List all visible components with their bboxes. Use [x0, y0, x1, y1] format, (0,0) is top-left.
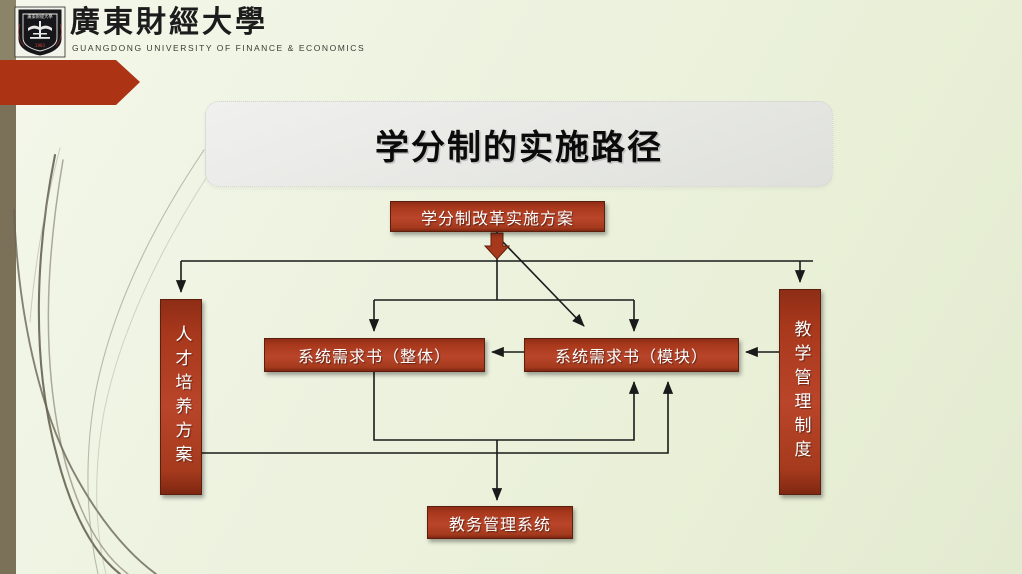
node-academic-affairs-system[interactable]: 教务管理系统	[427, 506, 573, 539]
red-down-arrow-icon	[485, 233, 509, 259]
edge-left-to-mid-right	[202, 382, 668, 453]
edge-mid-left-loop-to-mid-right	[374, 372, 634, 440]
node-requirements-module[interactable]: 系统需求书（模块）	[524, 338, 739, 372]
edge-diagonal-top-to-mid-right	[503, 242, 584, 326]
slide-canvas: 廣東財經大學 1983 廣東財經大學 GUANGDONG UNIVERSITY …	[0, 0, 1022, 574]
node-credit-system-reform-plan[interactable]: 学分制改革实施方案	[390, 201, 605, 232]
diagram-connectors	[0, 0, 1022, 574]
node-requirements-overall[interactable]: 系统需求书（整体）	[264, 338, 485, 372]
node-talent-training-plan[interactable]: 人才培养方案	[160, 299, 202, 495]
node-teaching-management-system[interactable]: 教学管理制度	[779, 289, 821, 495]
